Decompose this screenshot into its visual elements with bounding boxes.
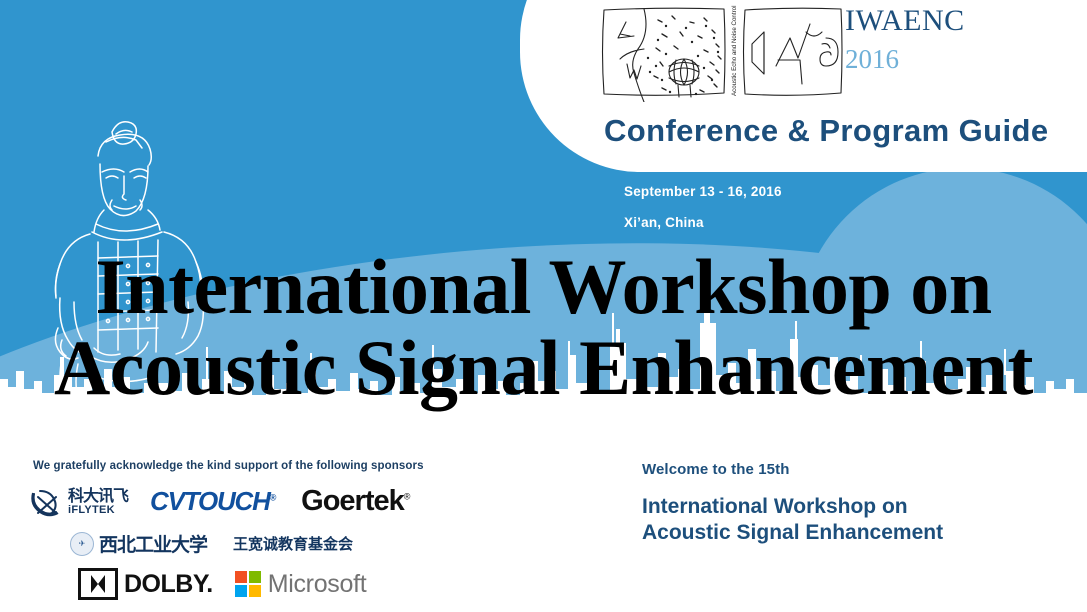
welcome-line-2: International Workshop on [642, 494, 943, 520]
sponsor-logo-microsoft[interactable]: Microsoft [235, 570, 367, 599]
sponsor-row-2: ✈ 西北工业大学 王宽诚教育基金会 [70, 530, 353, 557]
dolby-wordmark: DOLBY. [124, 570, 213, 599]
brand-year: 2016 [845, 46, 1075, 73]
guide-title: Conference & Program Guide [604, 113, 1049, 149]
page-title-line-2: Acoustic Signal Enhancement [0, 329, 1087, 406]
nwpu-chinese-name: 西北工业大学 [99, 530, 207, 557]
logo-vertical-caption: Acoustic Echo and Noise Control [731, 6, 738, 96]
event-dates: September 13 - 16, 2016 [624, 184, 782, 199]
cvtouch-wordmark: CVTOUCH [150, 486, 270, 516]
footer-section: We gratefully acknowledge the kind suppo… [0, 433, 1087, 612]
sponsor-logo-iflytek[interactable]: 科大讯飞 iFLYTEK [30, 487, 128, 517]
iflytek-mark-icon [30, 487, 64, 517]
sponsor-row-3: DOLBY. Microsoft [78, 568, 366, 600]
page-title: International Workshop on Acoustic Signa… [0, 248, 1087, 406]
iflytek-english-name: iFLYTEK [68, 505, 128, 516]
welcome-line-1: Welcome to the 15th [642, 461, 943, 478]
sponsor-row-1: 科大讯飞 iFLYTEK CVTOUCH® Goertek® [30, 485, 409, 518]
event-dateline: September 13 - 16, 2016 Xi’an, China [624, 184, 782, 230]
hero-banner: Acoustic Echo and Noise Control IWAENC 2… [0, 0, 1087, 433]
sponsor-logo-cvtouch[interactable]: CVTOUCH® [150, 486, 275, 517]
sponsor-heading: We gratefully acknowledge the kind suppo… [33, 460, 424, 472]
microsoft-wordmark: Microsoft [268, 570, 367, 599]
goertek-wordmark: Goertek [301, 485, 404, 517]
page-title-line-1: International Workshop on [0, 248, 1087, 325]
dolby-double-d-icon [78, 568, 118, 600]
conference-guide-cover: Acoustic Echo and Noise Control IWAENC 2… [0, 0, 1087, 612]
goertek-registered-mark: ® [404, 491, 410, 501]
sponsor-logo-goertek[interactable]: Goertek® [301, 485, 409, 518]
iwaenc-logo: Acoustic Echo and Noise Control [600, 4, 845, 102]
cvtouch-registered-mark: ® [270, 492, 275, 502]
event-location: Xi’an, China [624, 215, 782, 230]
microsoft-squares-icon [235, 571, 261, 597]
brand-acronym: IWAENC [845, 6, 1075, 36]
iflytek-chinese-name: 科大讯飞 [68, 488, 128, 504]
welcome-block: Welcome to the 15th International Worksh… [642, 461, 943, 545]
sponsor-logo-wangkuancheng[interactable]: 王宽诚教育基金会 [233, 533, 353, 554]
brand-block: IWAENC 2016 [845, 6, 1075, 73]
nwpu-seal-icon: ✈ [70, 532, 94, 556]
sponsor-logo-dolby[interactable]: DOLBY. [78, 568, 213, 600]
welcome-line-3: Acoustic Signal Enhancement [642, 520, 943, 546]
sponsor-logo-nwpu[interactable]: ✈ 西北工业大学 [70, 530, 207, 557]
